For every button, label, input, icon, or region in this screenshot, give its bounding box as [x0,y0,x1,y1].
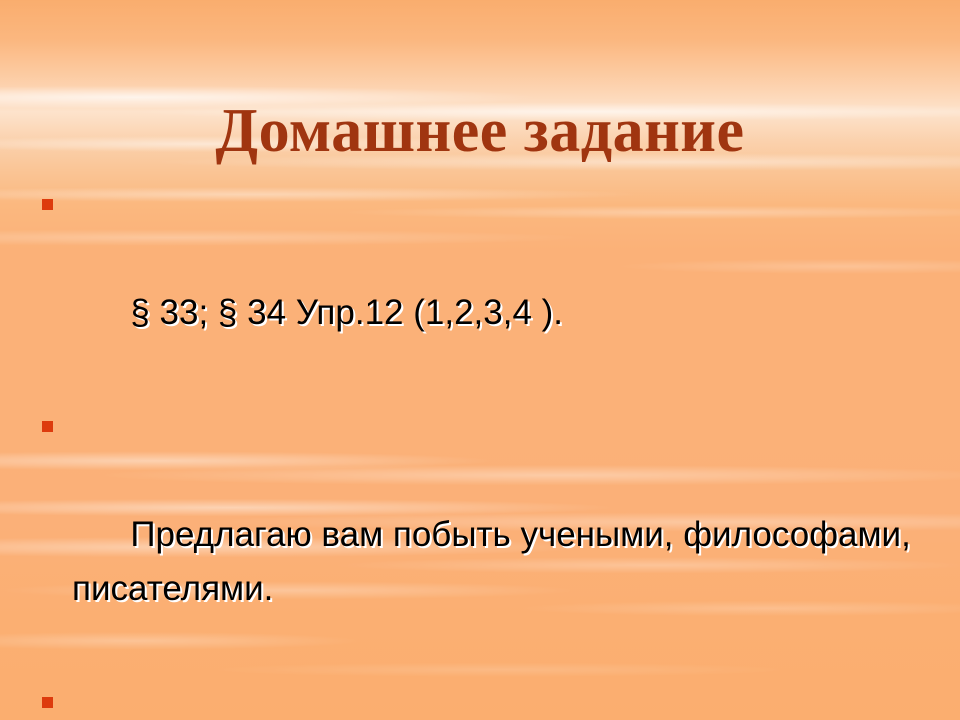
presentation-slide: Домашнее задание § 33; § 34 Упр.12 (1,2,… [0,0,960,720]
list-item-text: § 33; § 34 Упр.12 (1,2,3,4 ). [130,293,563,332]
list-item: Предлагаю вам побыть учеными, философами… [34,400,934,670]
filled-square-bullet-icon [42,199,53,210]
filled-square-bullet-icon [42,421,53,432]
list-item: Напишите небольшое сочинение на тему “Че… [34,676,934,720]
slide-title: Домашнее задание [0,96,960,166]
filled-square-bullet-icon [42,697,53,708]
list-item: § 33; § 34 Упр.12 (1,2,3,4 ). [34,178,934,394]
slide-bullet-list: § 33; § 34 Упр.12 (1,2,3,4 ). Предлагаю … [34,178,934,720]
list-item-text: Предлагаю вам побыть учеными, философами… [72,515,921,608]
